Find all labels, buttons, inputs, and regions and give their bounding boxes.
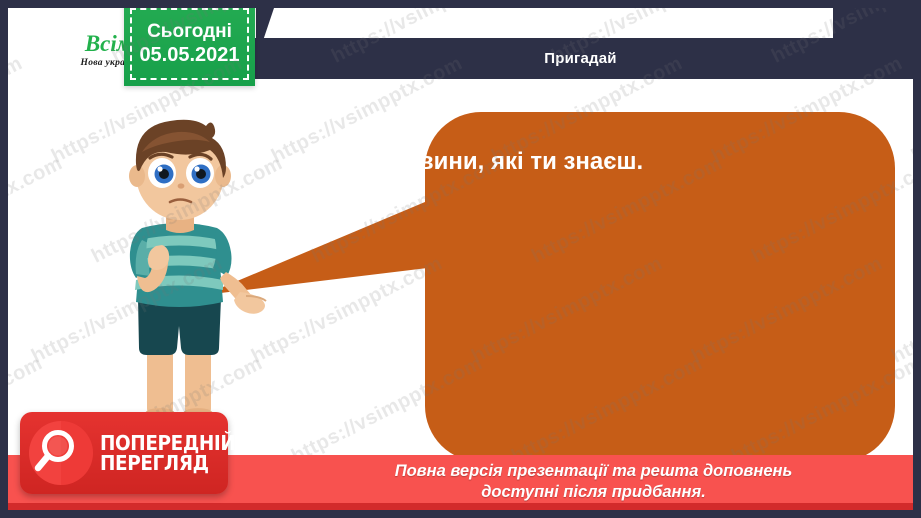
preview-badge-line2: ПЕРЕГЛЯД [100, 453, 235, 473]
preview-badge-labels: ПОПЕРЕДНІЙ ПЕРЕГЛЯД [100, 433, 247, 474]
header-corner-block [833, 8, 913, 38]
slide-frame: Назви речовини, які ти знаєш. [0, 0, 921, 518]
preview-badge-line1: ПОПЕРЕДНІЙ [100, 433, 235, 453]
purchase-footer-text: Повна версія презентації та решта доповн… [288, 461, 899, 504]
slide-header-bar: Пригадай [248, 38, 913, 79]
page-title: Пригадай [544, 50, 616, 67]
magnifier-icon [28, 420, 94, 486]
today-date-value: 05.05.2021 [139, 43, 239, 68]
today-date-badge: Сьогодні 05.05.2021 [124, 8, 255, 86]
slide-canvas: Назви речовини, які ти знаєш. [8, 8, 913, 510]
purchase-footer-line2: доступні після придбання. [288, 482, 899, 503]
preview-badge[interactable]: ПОПЕРЕДНІЙ ПЕРЕГЛЯД [20, 412, 228, 494]
today-label: Сьогодні [147, 20, 232, 44]
thinking-boy-illustration [90, 112, 270, 424]
purchase-footer-line1: Повна версія презентації та решта доповн… [288, 461, 899, 482]
